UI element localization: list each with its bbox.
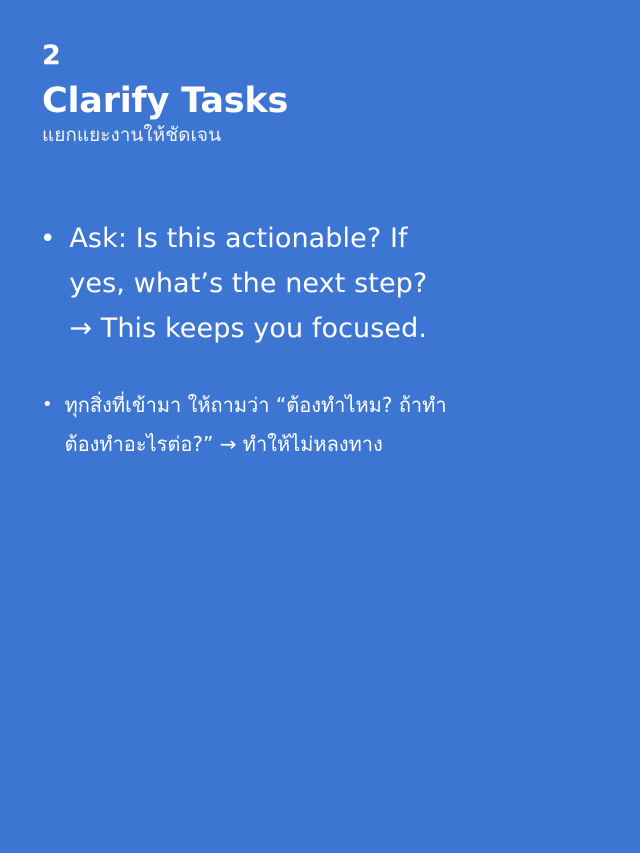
list-item-line: Ask: Is this actionable? If: [69, 216, 509, 261]
page-subtitle: แยกแยะงานให้ชัดเจน: [42, 124, 600, 148]
bullet-marker-icon: •: [42, 396, 53, 414]
list-item-text: ทุกสิ่งที่เข้ามา ให้ถามว่า “ต้องทำไหม? ถ…: [65, 386, 535, 464]
bullet-marker-icon: •: [40, 226, 55, 252]
list-item-line: ทุกสิ่งที่เข้ามา ให้ถามว่า “ต้องทำไหม? ถ…: [65, 386, 535, 425]
page-title: Clarify Tasks: [42, 83, 600, 120]
list-item-line: → This keeps you focused.: [69, 306, 509, 351]
slide-canvas: 2 Clarify Tasks แยกแยะงานให้ชัดเจน • Ask…: [0, 0, 640, 853]
list-item-text: Ask: Is this actionable? If yes, what’s …: [69, 216, 509, 352]
bullet-list: • Ask: Is this actionable? If yes, what’…: [40, 216, 600, 464]
list-item: • Ask: Is this actionable? If yes, what’…: [40, 216, 600, 352]
slide-number: 2: [42, 42, 600, 69]
list-item: • ทุกสิ่งที่เข้ามา ให้ถามว่า “ต้องทำไหม?…: [40, 386, 600, 464]
list-item-line: ต้องทำอะไรต่อ?” → ทำให้ไม่หลงทาง: [65, 425, 535, 464]
list-item-line: yes, what’s the next step?: [69, 261, 509, 306]
